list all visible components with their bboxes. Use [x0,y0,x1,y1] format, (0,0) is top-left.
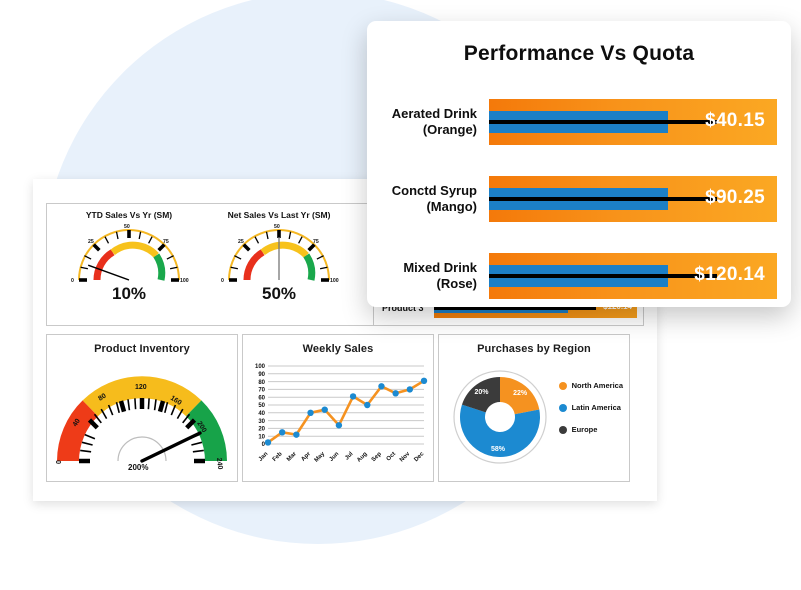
quota-target-marker [489,197,717,201]
quota-amount: $120.14 [694,264,765,286]
popup-title: Performance Vs Quota [367,42,791,66]
svg-text:50: 50 [258,403,265,409]
svg-text:90: 90 [258,372,265,378]
quota-amount: $40.15 [705,110,765,132]
svg-text:25: 25 [238,239,244,245]
quota-target-marker [489,120,717,124]
legend-dot-icon [559,404,567,412]
gauge-dial: 0 25 50 75 100 [67,222,191,288]
svg-text:25: 25 [88,239,94,245]
legend-item-latin-america: Latin America [559,403,623,412]
svg-text:100: 100 [255,364,266,370]
quota-row-name: Mixed Drink [403,260,477,275]
svg-text:30: 30 [258,419,265,425]
gauge-value: 50% [205,284,353,304]
legend-dot-icon [559,426,567,434]
svg-text:0: 0 [221,278,224,284]
inventory-center-label: 200% [128,463,148,472]
quota-row-name: Aerated Drink [392,106,477,121]
svg-text:Jun: Jun [329,451,341,463]
svg-text:50: 50 [124,224,130,230]
quota-track: $90.25 [489,176,777,222]
quota-row-sublabel: (Orange) [377,122,477,138]
quota-target-marker [489,274,717,278]
legend-item-north-america: North America [559,381,623,390]
inventory-gauge-dial: 0 40 80 120 160 200 240 200% [50,357,234,475]
performance-vs-quota-popup: Performance Vs Quota Aerated Drink (Oran… [367,21,791,307]
svg-text:75: 75 [313,239,319,245]
gauge-net-sales-last-yr: Net Sales Vs Last Yr (SM) [205,210,353,304]
quota-row-name: Conctd Syrup [392,183,477,198]
svg-text:120: 120 [135,384,147,391]
svg-text:Jan: Jan [258,451,270,463]
card-title: Purchases by Region [439,343,629,355]
svg-text:50: 50 [274,224,280,230]
quota-track: $40.15 [489,99,777,145]
svg-text:0: 0 [56,460,63,464]
region-donut-chart: 22%58%20% [445,361,560,473]
gauge-title: YTD Sales Vs Yr (SM) [55,210,203,220]
quota-row-label: Aerated Drink (Orange) [377,106,489,138]
svg-text:20: 20 [258,427,265,433]
card-title: Product Inventory [47,343,237,355]
purchases-by-region-card: Purchases by Region 22%58%20% North Amer… [438,334,630,482]
gauge-title: Net Sales Vs Last Yr (SM) [205,210,353,220]
svg-text:0: 0 [71,278,74,284]
svg-text:40: 40 [258,411,265,417]
quota-row-conctd-syrup: Conctd Syrup (Mango) $90.25 [377,173,777,225]
svg-text:10: 10 [258,434,265,440]
region-legend: North America Latin America Europe [559,381,623,447]
svg-text:Apr: Apr [300,451,312,463]
weekly-sales-card: Weekly Sales 0102030405060708090100JanFe… [242,334,434,482]
svg-text:75: 75 [163,239,169,245]
legend-label: Europe [572,425,598,434]
legend-label: Latin America [572,403,621,412]
svg-text:100: 100 [180,278,189,284]
svg-text:Jul: Jul [344,451,355,462]
quota-row-sublabel: (Rose) [377,276,477,292]
svg-text:80: 80 [258,380,265,386]
svg-text:Sep: Sep [371,451,383,463]
legend-dot-icon [559,382,567,390]
svg-text:100: 100 [330,278,339,284]
quota-amount: $90.25 [705,187,765,209]
svg-text:20%: 20% [474,389,489,396]
svg-text:Oct: Oct [386,451,397,462]
quota-track: $120.14 [489,253,777,299]
gauge-ytd-sales: YTD Sales Vs Yr (SM) [55,210,203,304]
svg-text:Mar: Mar [286,451,298,463]
svg-text:22%: 22% [513,390,528,397]
gauge-value: 10% [55,284,203,304]
svg-text:70: 70 [258,388,265,394]
svg-text:May: May [314,451,327,464]
card-title: Weekly Sales [243,343,433,355]
gauge-dial: 0 25 50 75 100 [217,222,341,288]
quota-row-aerated-drink: Aerated Drink (Orange) $40.15 [377,96,777,148]
legend-item-europe: Europe [559,425,623,434]
quota-row-label: Conctd Syrup (Mango) [377,183,489,215]
svg-text:240: 240 [215,457,223,469]
svg-text:Nov: Nov [399,451,412,464]
quota-row-label: Mixed Drink (Rose) [377,260,489,292]
quota-row-sublabel: (Mango) [377,199,477,215]
quota-row-mixed-drink: Mixed Drink (Rose) $120.14 [377,250,777,302]
svg-text:Dec: Dec [413,451,425,463]
svg-text:Aug: Aug [356,451,369,464]
svg-text:Feb: Feb [272,451,284,463]
weekly-sales-line-chart: 0102030405060708090100JanFebMarAprMayJun… [246,358,430,476]
legend-label: North America [572,381,623,390]
svg-text:60: 60 [258,395,265,401]
product-inventory-card: Product Inventory [46,334,238,482]
svg-text:58%: 58% [491,446,506,453]
